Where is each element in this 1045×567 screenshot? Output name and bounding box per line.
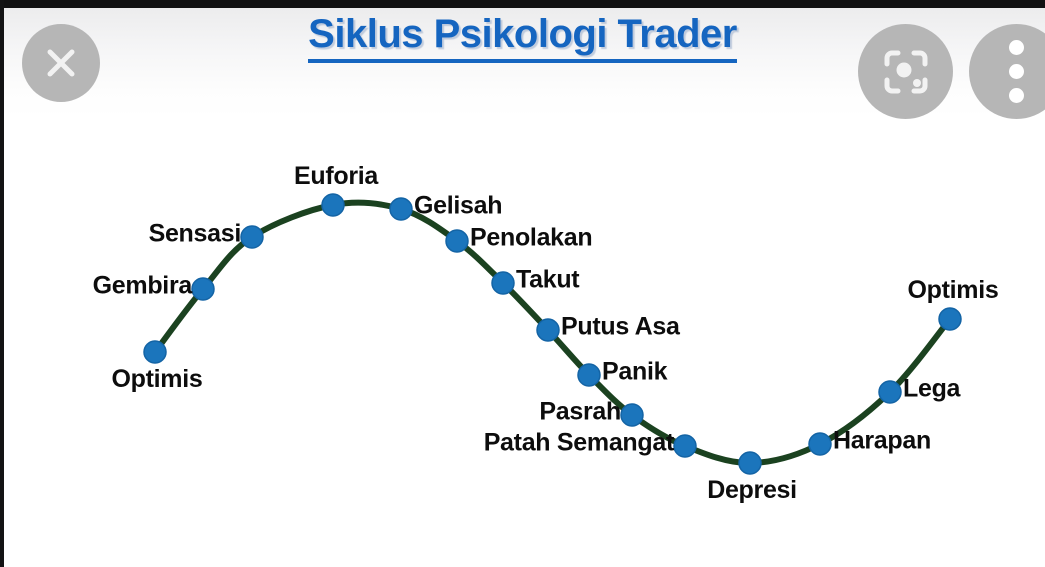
curve-point-label: Penolakan (470, 226, 592, 251)
curve-point-label: Harapan (833, 429, 931, 454)
curve-point-label: Pasrah (539, 400, 621, 425)
curve-point-label: Gembira (93, 274, 192, 299)
curve-node (739, 452, 761, 474)
curve-node (492, 272, 514, 294)
curve-point-label: Optimis (112, 367, 203, 392)
curve-point-label: Depresi (707, 478, 797, 503)
viewer-left-chrome (0, 0, 4, 567)
curve-node (322, 194, 344, 216)
curve-point-label: Optimis (908, 278, 999, 303)
curve-point-label: Panik (602, 360, 667, 385)
curve-node (578, 364, 600, 386)
close-icon (41, 43, 81, 83)
close-button[interactable] (22, 24, 100, 102)
curve-point-label: Putus Asa (561, 315, 680, 340)
curve-point-label: Lega (903, 377, 960, 402)
curve-point-label: Euforia (294, 164, 378, 189)
curve-node (621, 404, 643, 426)
google-lens-icon (879, 45, 933, 99)
curve-node (879, 381, 901, 403)
curve-point-label: Patah Semangat (484, 431, 674, 456)
viewer-top-chrome (0, 0, 1045, 8)
curve-node (809, 433, 831, 455)
curve-point-label: Gelisah (414, 194, 502, 219)
google-lens-button[interactable] (858, 24, 953, 119)
curve-node (939, 308, 961, 330)
curve-node (241, 226, 263, 248)
screenshot-root: Siklus Psikologi Trader OptimisGembiraSe… (0, 0, 1045, 567)
curve-node (537, 319, 559, 341)
curve-point-label: Takut (516, 268, 579, 293)
curve-node (674, 435, 696, 457)
curve-node (390, 198, 412, 220)
curve-node (446, 230, 468, 252)
curve-point-label: Sensasi (149, 222, 241, 247)
curve-node (192, 278, 214, 300)
curve-node (144, 341, 166, 363)
more-vertical-icon (1009, 40, 1024, 103)
